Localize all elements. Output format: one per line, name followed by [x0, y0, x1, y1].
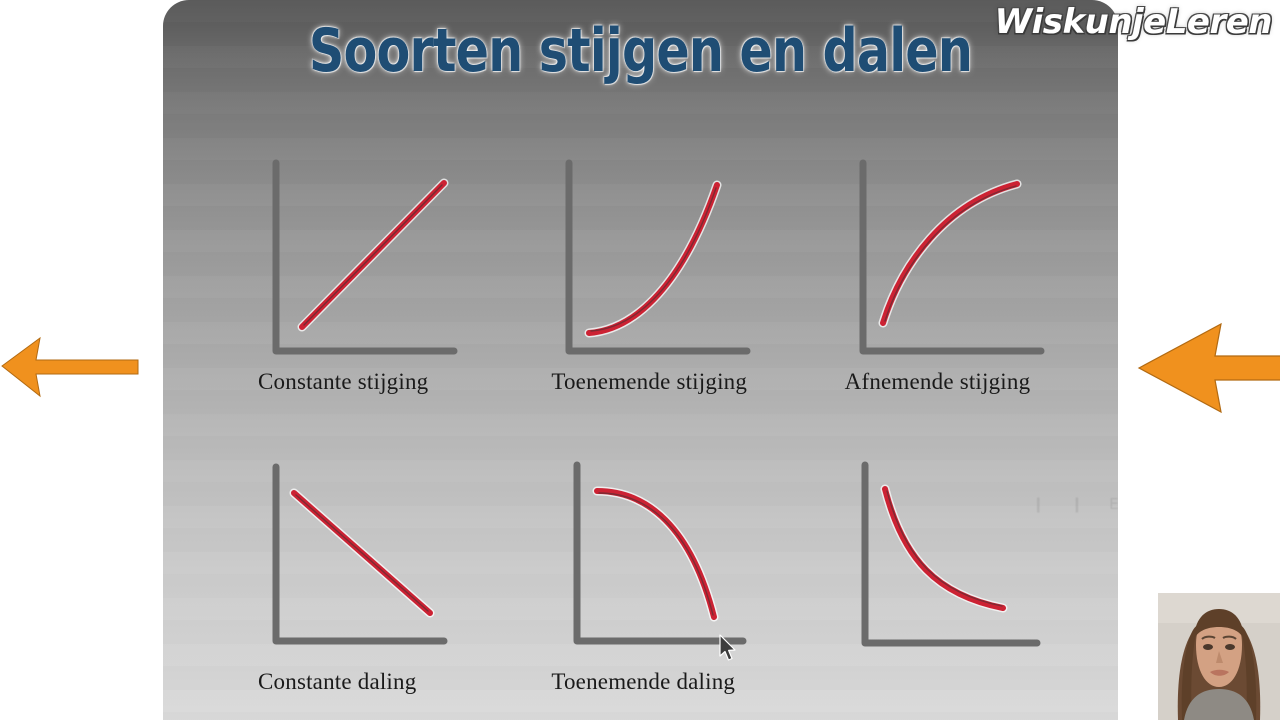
chart-label-constante-daling: Constante daling — [258, 669, 531, 695]
curve-core — [304, 185, 442, 325]
curve-line — [589, 185, 717, 333]
page-title: Soorten stijgen en dalen — [249, 16, 1032, 86]
chart-row-daling: Constante daling Toenemende daling — [163, 455, 1118, 695]
chart-panel-afnemende-daling: Afnemende daling — [845, 455, 1118, 695]
axis-lines — [863, 163, 1041, 351]
curve-halo — [883, 184, 1017, 323]
channel-watermark: WiskunjeLeren — [995, 2, 1272, 42]
arrow-shape — [1139, 324, 1280, 412]
chart-constante-daling — [258, 455, 468, 665]
axis-lines — [569, 163, 747, 351]
chart-panel-constante-stijging: Constante stijging — [258, 155, 531, 395]
eye-left — [1203, 644, 1213, 650]
arrow-shape — [2, 338, 138, 396]
chart-panel-toenemende-stijging: Toenemende stijging — [551, 155, 824, 395]
chart-panel-toenemende-daling: Toenemende daling — [551, 455, 824, 695]
curve-core — [885, 186, 1016, 321]
chart-afnemende-daling — [845, 455, 1055, 665]
eye-right — [1225, 644, 1235, 650]
axis-lines — [865, 465, 1037, 643]
curve-core — [296, 495, 428, 611]
chart-toenemende-stijging — [551, 155, 761, 365]
curve-halo — [589, 185, 717, 333]
orange-arrow-right[interactable] — [1135, 318, 1280, 418]
chart-panel-constante-daling: Constante daling — [258, 455, 531, 695]
chart-label-afnemende-stijging: Afnemende stijging — [845, 369, 1118, 395]
chart-panel-afnemende-stijging: Afnemende stijging — [845, 155, 1118, 395]
curve-halo — [885, 489, 1003, 608]
chart-toenemende-daling — [551, 455, 761, 665]
chart-label-toenemende-daling: Toenemende daling — [551, 669, 824, 695]
curve-line — [597, 491, 714, 617]
curve-core — [591, 188, 716, 331]
webcam-portrait — [1158, 593, 1280, 720]
chart-label-toenemende-stijging: Toenemende stijging — [551, 369, 824, 395]
chart-afnemende-stijging — [845, 155, 1055, 365]
chart-row-stijging: Constante stijging Toenemende stijging — [163, 155, 1118, 395]
curve-line — [883, 184, 1017, 323]
chart-constante-stijging — [258, 155, 468, 365]
chart-label-constante-stijging: Constante stijging — [258, 369, 531, 395]
presentation-slide: Soorten stijgen en dalen ❙ ❙ E ▦ ↵ ■ Con… — [163, 0, 1118, 720]
orange-arrow-left[interactable] — [0, 330, 140, 404]
video-player-stage: Soorten stijgen en dalen ❙ ❙ E ▦ ↵ ■ Con… — [0, 0, 1280, 720]
webcam-thumbnail[interactable] — [1158, 593, 1280, 720]
